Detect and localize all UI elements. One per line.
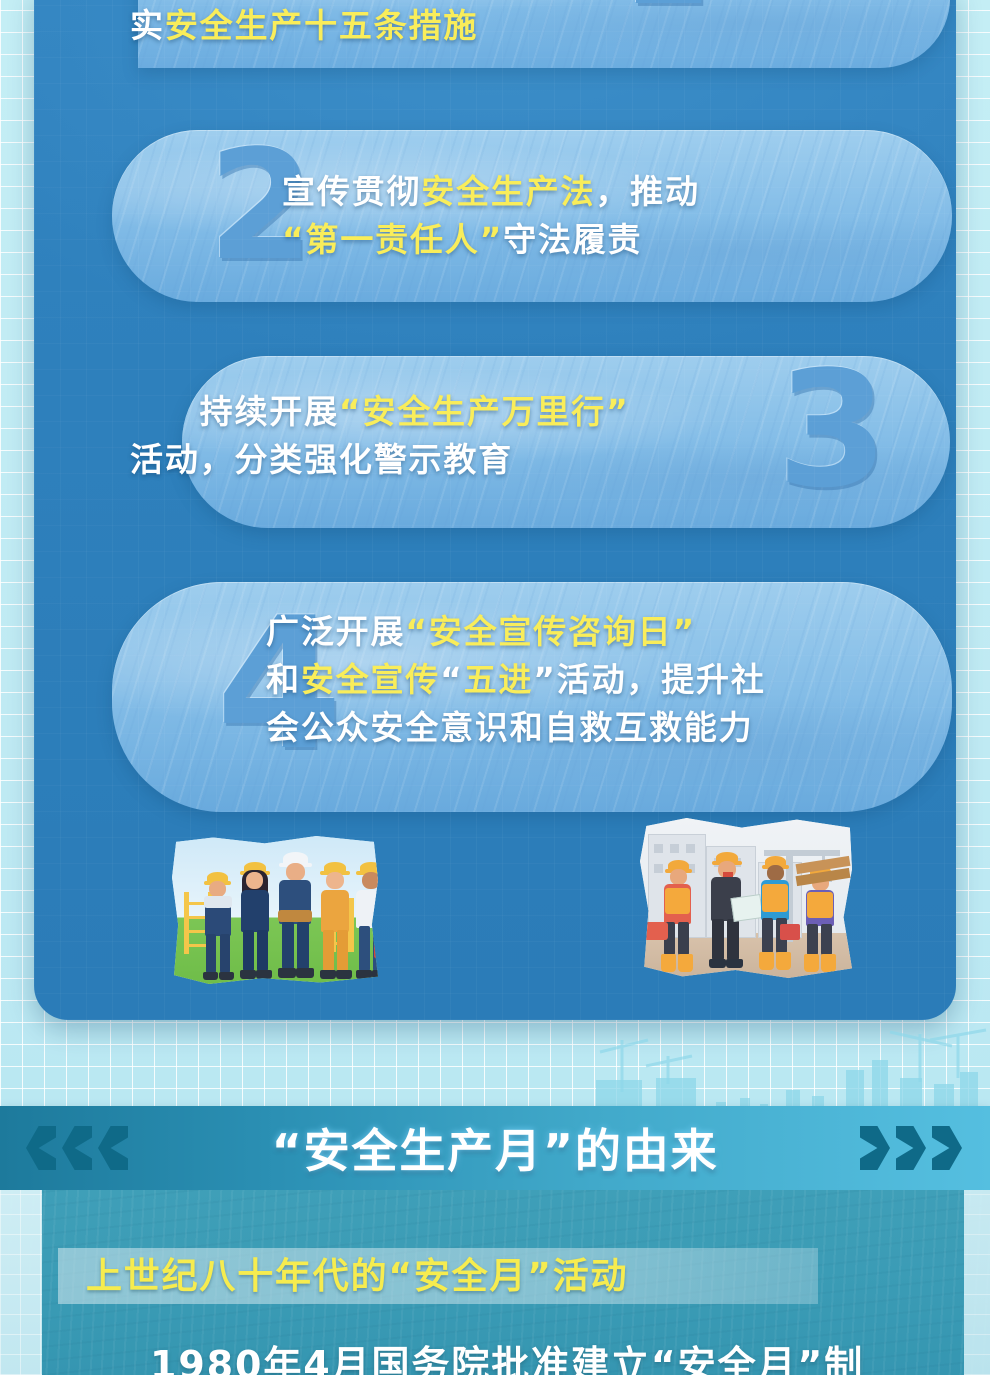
worker-figure xyxy=(798,854,844,978)
plain-text: “ xyxy=(440,660,464,699)
measure-text-2: 宣传贯彻安全生产法，推动 “第一责任人”守法履责 xyxy=(282,168,942,264)
worker-figure xyxy=(654,856,700,978)
chevron-left-icon xyxy=(62,1126,92,1170)
worker-leg xyxy=(243,930,254,972)
worker-head xyxy=(286,863,305,881)
section-banner: “安全生产月”的由来 xyxy=(0,1106,990,1190)
worker-leg xyxy=(821,924,832,956)
safety-vest xyxy=(665,888,690,914)
safety-vest xyxy=(807,892,833,918)
worker-boot xyxy=(219,972,234,980)
worker-leg xyxy=(712,919,724,961)
work-boot xyxy=(759,952,774,970)
plain-text: 实 xyxy=(130,6,165,45)
plain-text: 守法履责 xyxy=(503,220,642,259)
plain-text: 宣传贯彻 xyxy=(282,172,421,211)
worker-leg xyxy=(762,918,773,954)
worker-leg xyxy=(807,924,818,956)
worker-leg xyxy=(206,934,216,974)
chevron-left-group xyxy=(26,1126,128,1170)
safety-vest xyxy=(762,884,788,912)
worker-head xyxy=(326,872,344,889)
highlighted-text: “安全宣传咨询日” xyxy=(405,612,696,651)
worker-shoe xyxy=(709,959,726,968)
chevron-left-icon xyxy=(26,1126,56,1170)
highlighted-text: 安全生产法 xyxy=(421,172,595,211)
worker-figure xyxy=(702,850,750,978)
worker-leg xyxy=(337,930,348,972)
plain-text: 和 xyxy=(266,660,301,699)
infographic-page: 1 实安全生产十五条措施 2 宣传贯彻安全生产法，推动 “第一责任人”守法履责 … xyxy=(0,0,990,1375)
worker-head xyxy=(362,872,378,889)
window xyxy=(686,844,695,853)
worker-boot xyxy=(278,968,296,978)
worker-boot xyxy=(256,970,272,979)
worker-torso xyxy=(321,890,349,932)
skyline-silhouette-icon xyxy=(0,1022,990,1118)
work-boot xyxy=(821,954,836,972)
measure-text-3: 持续开展“安全生产万里行” 活动，分类强化警示教育 xyxy=(130,388,810,484)
worker-leg xyxy=(257,930,268,972)
worker-figure xyxy=(272,852,318,984)
worker-boot xyxy=(240,970,256,979)
worker-figure xyxy=(234,860,276,984)
worker-figure xyxy=(752,852,798,978)
chevron-right-icon xyxy=(860,1126,890,1170)
highlighted-text: 安全生产十五条措施 xyxy=(165,6,478,45)
chevron-right-icon xyxy=(932,1126,962,1170)
construction-site-workers-photo xyxy=(640,818,852,978)
window xyxy=(670,844,679,853)
worker-torso xyxy=(241,890,269,932)
plain-text: 持续开展 xyxy=(130,392,339,431)
worker-shirt xyxy=(204,896,232,908)
highlighted-text: “安全生产万里行” xyxy=(339,392,630,431)
highlighted-text: “第一责任人” xyxy=(282,220,503,259)
worker-boot xyxy=(203,972,218,980)
worker-leg xyxy=(727,919,739,961)
work-boot xyxy=(678,954,693,972)
worker-leg xyxy=(297,922,309,970)
worker-head xyxy=(767,865,784,881)
worker-leg xyxy=(678,922,689,956)
measure-text-1: 实安全生产十五条措施 xyxy=(130,4,830,48)
worker-head xyxy=(670,869,687,885)
tool-belt xyxy=(278,910,312,922)
origin-sub-heading: 上世纪八十年代的“安全月”活动 xyxy=(86,1250,846,1304)
section-title: “安全生产月”的由来 xyxy=(272,1115,719,1181)
work-boot xyxy=(804,954,819,972)
chevron-right-icon xyxy=(896,1126,926,1170)
plain-text: ，推动 xyxy=(595,172,699,211)
origin-body-line: 1980年4月国务院批准建立“安全月”制 xyxy=(150,1334,980,1375)
work-boot xyxy=(776,952,791,970)
worker-head xyxy=(209,881,226,897)
plain-text: 广泛开展 xyxy=(266,612,405,651)
worker-leg xyxy=(359,926,370,972)
worker-boot xyxy=(296,968,314,978)
chevron-left-icon xyxy=(98,1126,128,1170)
background-skyline xyxy=(0,1022,990,1118)
window xyxy=(654,844,663,853)
worker-figure xyxy=(198,868,238,984)
briefcase-icon xyxy=(780,924,800,940)
worker-boot xyxy=(320,970,336,979)
plain-text: 活动，分类强化警示教育 xyxy=(130,440,513,479)
worker-leg xyxy=(220,934,230,974)
measure-text-4: 广泛开展“安全宣传咨询日” 和安全宣传“五进”活动，提升社 会公众安全意识和自救… xyxy=(266,608,946,752)
chevron-right-group xyxy=(860,1126,962,1170)
work-boot xyxy=(661,954,676,972)
highlighted-text: 安全宣传 xyxy=(301,660,440,699)
worker-head xyxy=(246,872,263,889)
worker-leg xyxy=(282,922,294,970)
worker-shoe xyxy=(726,959,743,968)
construction-workers-group-photo xyxy=(172,836,378,984)
highlighted-text: 五进 xyxy=(464,660,534,699)
worker-leg xyxy=(323,930,334,972)
